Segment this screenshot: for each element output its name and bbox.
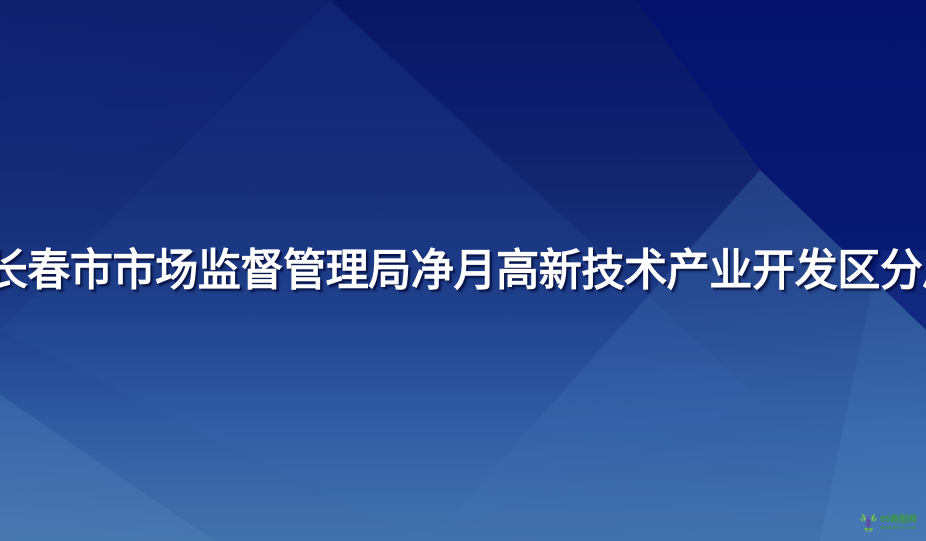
watermark: 95商服网 www.95sf.com <box>860 513 918 533</box>
watermark-text-block: 95商服网 www.95sf.com <box>880 515 918 531</box>
site-banner: 长春市市场监督管理局净月高新技术产业开发区分局 <box>0 0 926 541</box>
leaf-person-logo-icon <box>860 513 877 533</box>
watermark-url: www.95sf.com <box>880 526 916 531</box>
watermark-brand: 95商服网 <box>880 515 918 524</box>
page-title: 长春市市场监督管理局净月高新技术产业开发区分局 <box>0 249 925 293</box>
banner-title-container: 长春市市场监督管理局净月高新技术产业开发区分局 <box>0 0 926 541</box>
